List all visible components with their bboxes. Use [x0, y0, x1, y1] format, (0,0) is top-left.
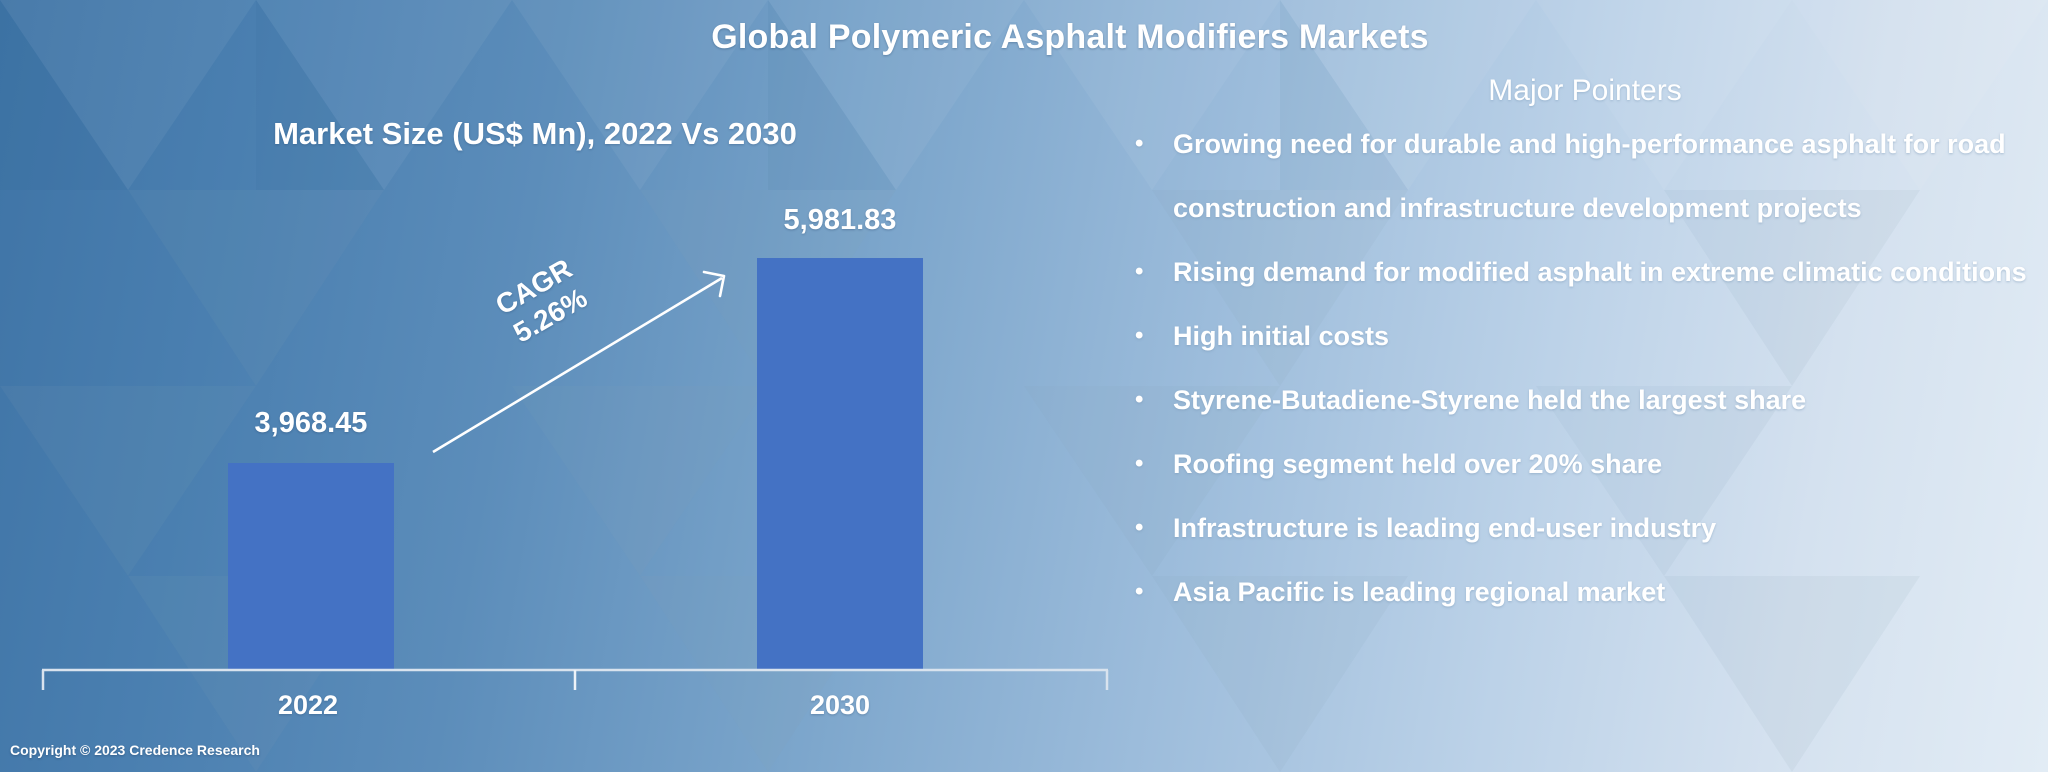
list-item: • Styrene-Butadiene-Styrene held the lar…: [1135, 368, 2035, 432]
copyright-notice: Copyright © 2023 Credence Research: [10, 742, 260, 758]
bullet-icon: •: [1135, 496, 1173, 560]
list-item-label: Growing need for durable and high-perfor…: [1173, 112, 2035, 240]
list-item: • Asia Pacific is leading regional marke…: [1135, 560, 2035, 624]
list-item-label: Roofing segment held over 20% share: [1173, 432, 2035, 496]
chart-subtitle: Market Size (US$ Mn), 2022 Vs 2030: [195, 116, 875, 152]
major-pointers-header: Major Pointers: [1140, 74, 2030, 108]
cagr-arrow-head: [704, 272, 724, 296]
list-item-label: Asia Pacific is leading regional market: [1173, 560, 2035, 624]
bullet-icon: •: [1135, 560, 1173, 624]
bar-value-2022: 3,968.45: [181, 407, 441, 440]
bar-value-2030: 5,981.83: [710, 204, 970, 237]
list-item-label: Infrastructure is leading end-user indus…: [1173, 496, 2035, 560]
list-item: • Rising demand for modified asphalt in …: [1135, 240, 2035, 304]
list-item-label: Styrene-Butadiene-Styrene held the large…: [1173, 368, 2035, 432]
list-item: • Infrastructure is leading end-user ind…: [1135, 496, 2035, 560]
bar-2022: [228, 463, 394, 670]
bullet-icon: •: [1135, 432, 1173, 496]
axis-label-2030: 2030: [710, 690, 970, 721]
bullet-icon: •: [1135, 240, 1173, 304]
axis-label-2022: 2022: [178, 690, 438, 721]
list-item: • Roofing segment held over 20% share: [1135, 432, 2035, 496]
bullet-icon: •: [1135, 304, 1173, 368]
page-title-text: Global Polymeric Asphalt Modifiers Marke…: [711, 18, 1429, 57]
infographic-root: Global Polymeric Asphalt Modifiers Marke…: [0, 0, 2048, 772]
list-item: • High initial costs: [1135, 304, 2035, 368]
page-title: Global Polymeric Asphalt Modifiers Marke…: [0, 18, 2048, 57]
list-item: • Growing need for durable and high-perf…: [1135, 112, 2035, 240]
list-item-label: Rising demand for modified asphalt in ex…: [1173, 240, 2035, 304]
major-pointers-list: • Growing need for durable and high-perf…: [1135, 112, 2035, 624]
cagr-annotation: CAGR 5.26%: [448, 227, 637, 374]
bullet-icon: •: [1135, 112, 1173, 176]
bar-2030: [757, 258, 923, 670]
bullet-icon: •: [1135, 368, 1173, 432]
list-item-label: High initial costs: [1173, 304, 2035, 368]
